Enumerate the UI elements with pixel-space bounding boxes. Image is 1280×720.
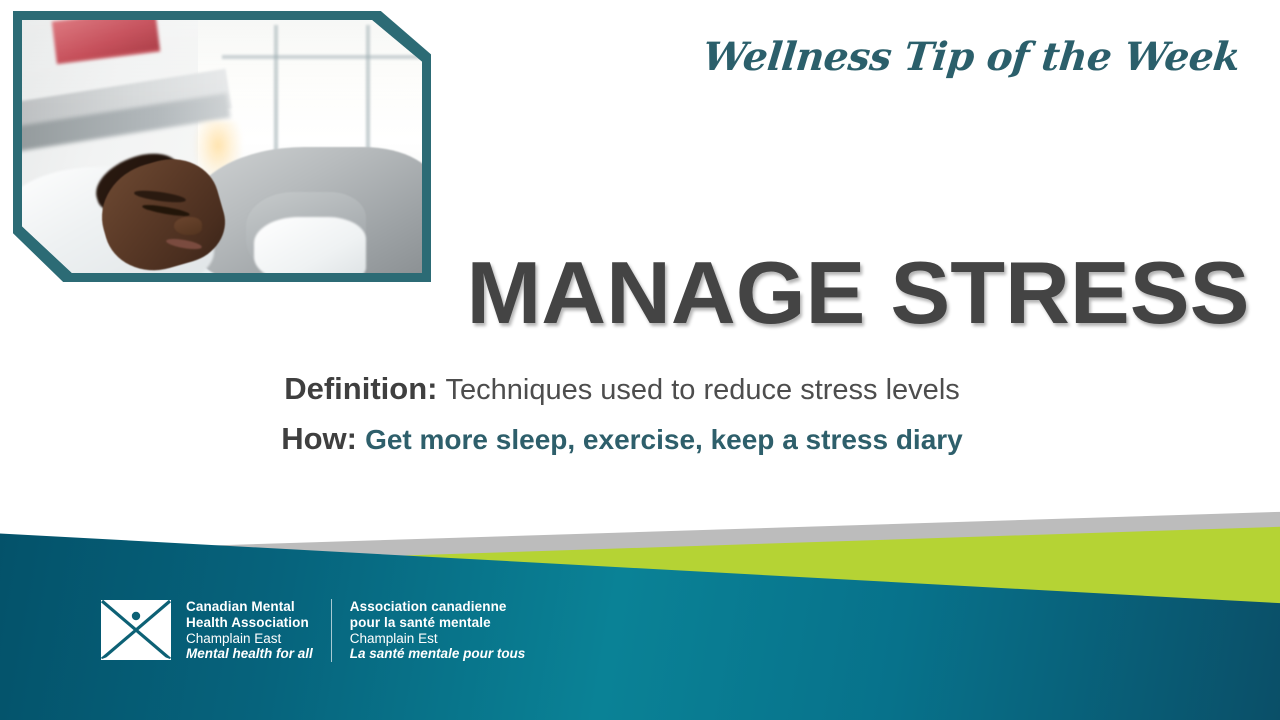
photo-nose: [174, 217, 202, 235]
slide-canvas: Wellness Tip of the Week MANAGE STRESS D…: [0, 0, 1280, 720]
definition-label: Definition:: [284, 371, 437, 406]
logo-text-english: Canadian Mental Health Association Champ…: [186, 599, 331, 662]
how-text: Get more sleep, exercise, keep a stress …: [365, 424, 963, 455]
sleeping-man-photo: [22, 20, 422, 273]
logo-fr-tagline: La santé mentale pour tous: [350, 646, 526, 662]
logo-en-line1: Canadian Mental: [186, 599, 313, 615]
page-title: MANAGE STRESS: [462, 250, 1254, 336]
definition-line: Definition: Techniques used to reduce st…: [0, 371, 1244, 407]
cmha-logo: Canadian Mental Health Association Champ…: [100, 599, 525, 662]
logo-fr-line2: pour la santé mentale: [350, 615, 526, 631]
logo-fr-line1: Association canadienne: [350, 599, 526, 615]
how-line: How: Get more sleep, exercise, keep a st…: [0, 421, 1244, 457]
photo-sheet: [254, 217, 366, 273]
how-label: How:: [281, 421, 357, 456]
logo-en-line2: Health Association: [186, 615, 313, 631]
wellness-tip-title: Wellness Tip of the Week: [701, 34, 1243, 80]
logo-text-french: Association canadienne pour la santé men…: [331, 599, 526, 662]
logo-fr-line3: Champlain Est: [350, 631, 526, 647]
logo-en-line3: Champlain East: [186, 631, 313, 647]
definition-text: Techniques used to reduce stress levels: [446, 374, 960, 406]
photo-window-mullion: [222, 55, 422, 59]
logo-text-group: Canadian Mental Health Association Champ…: [186, 599, 525, 662]
cmha-person-x-icon: [100, 599, 172, 661]
photo-frame: [13, 11, 431, 282]
logo-en-tagline: Mental health for all: [186, 646, 313, 662]
